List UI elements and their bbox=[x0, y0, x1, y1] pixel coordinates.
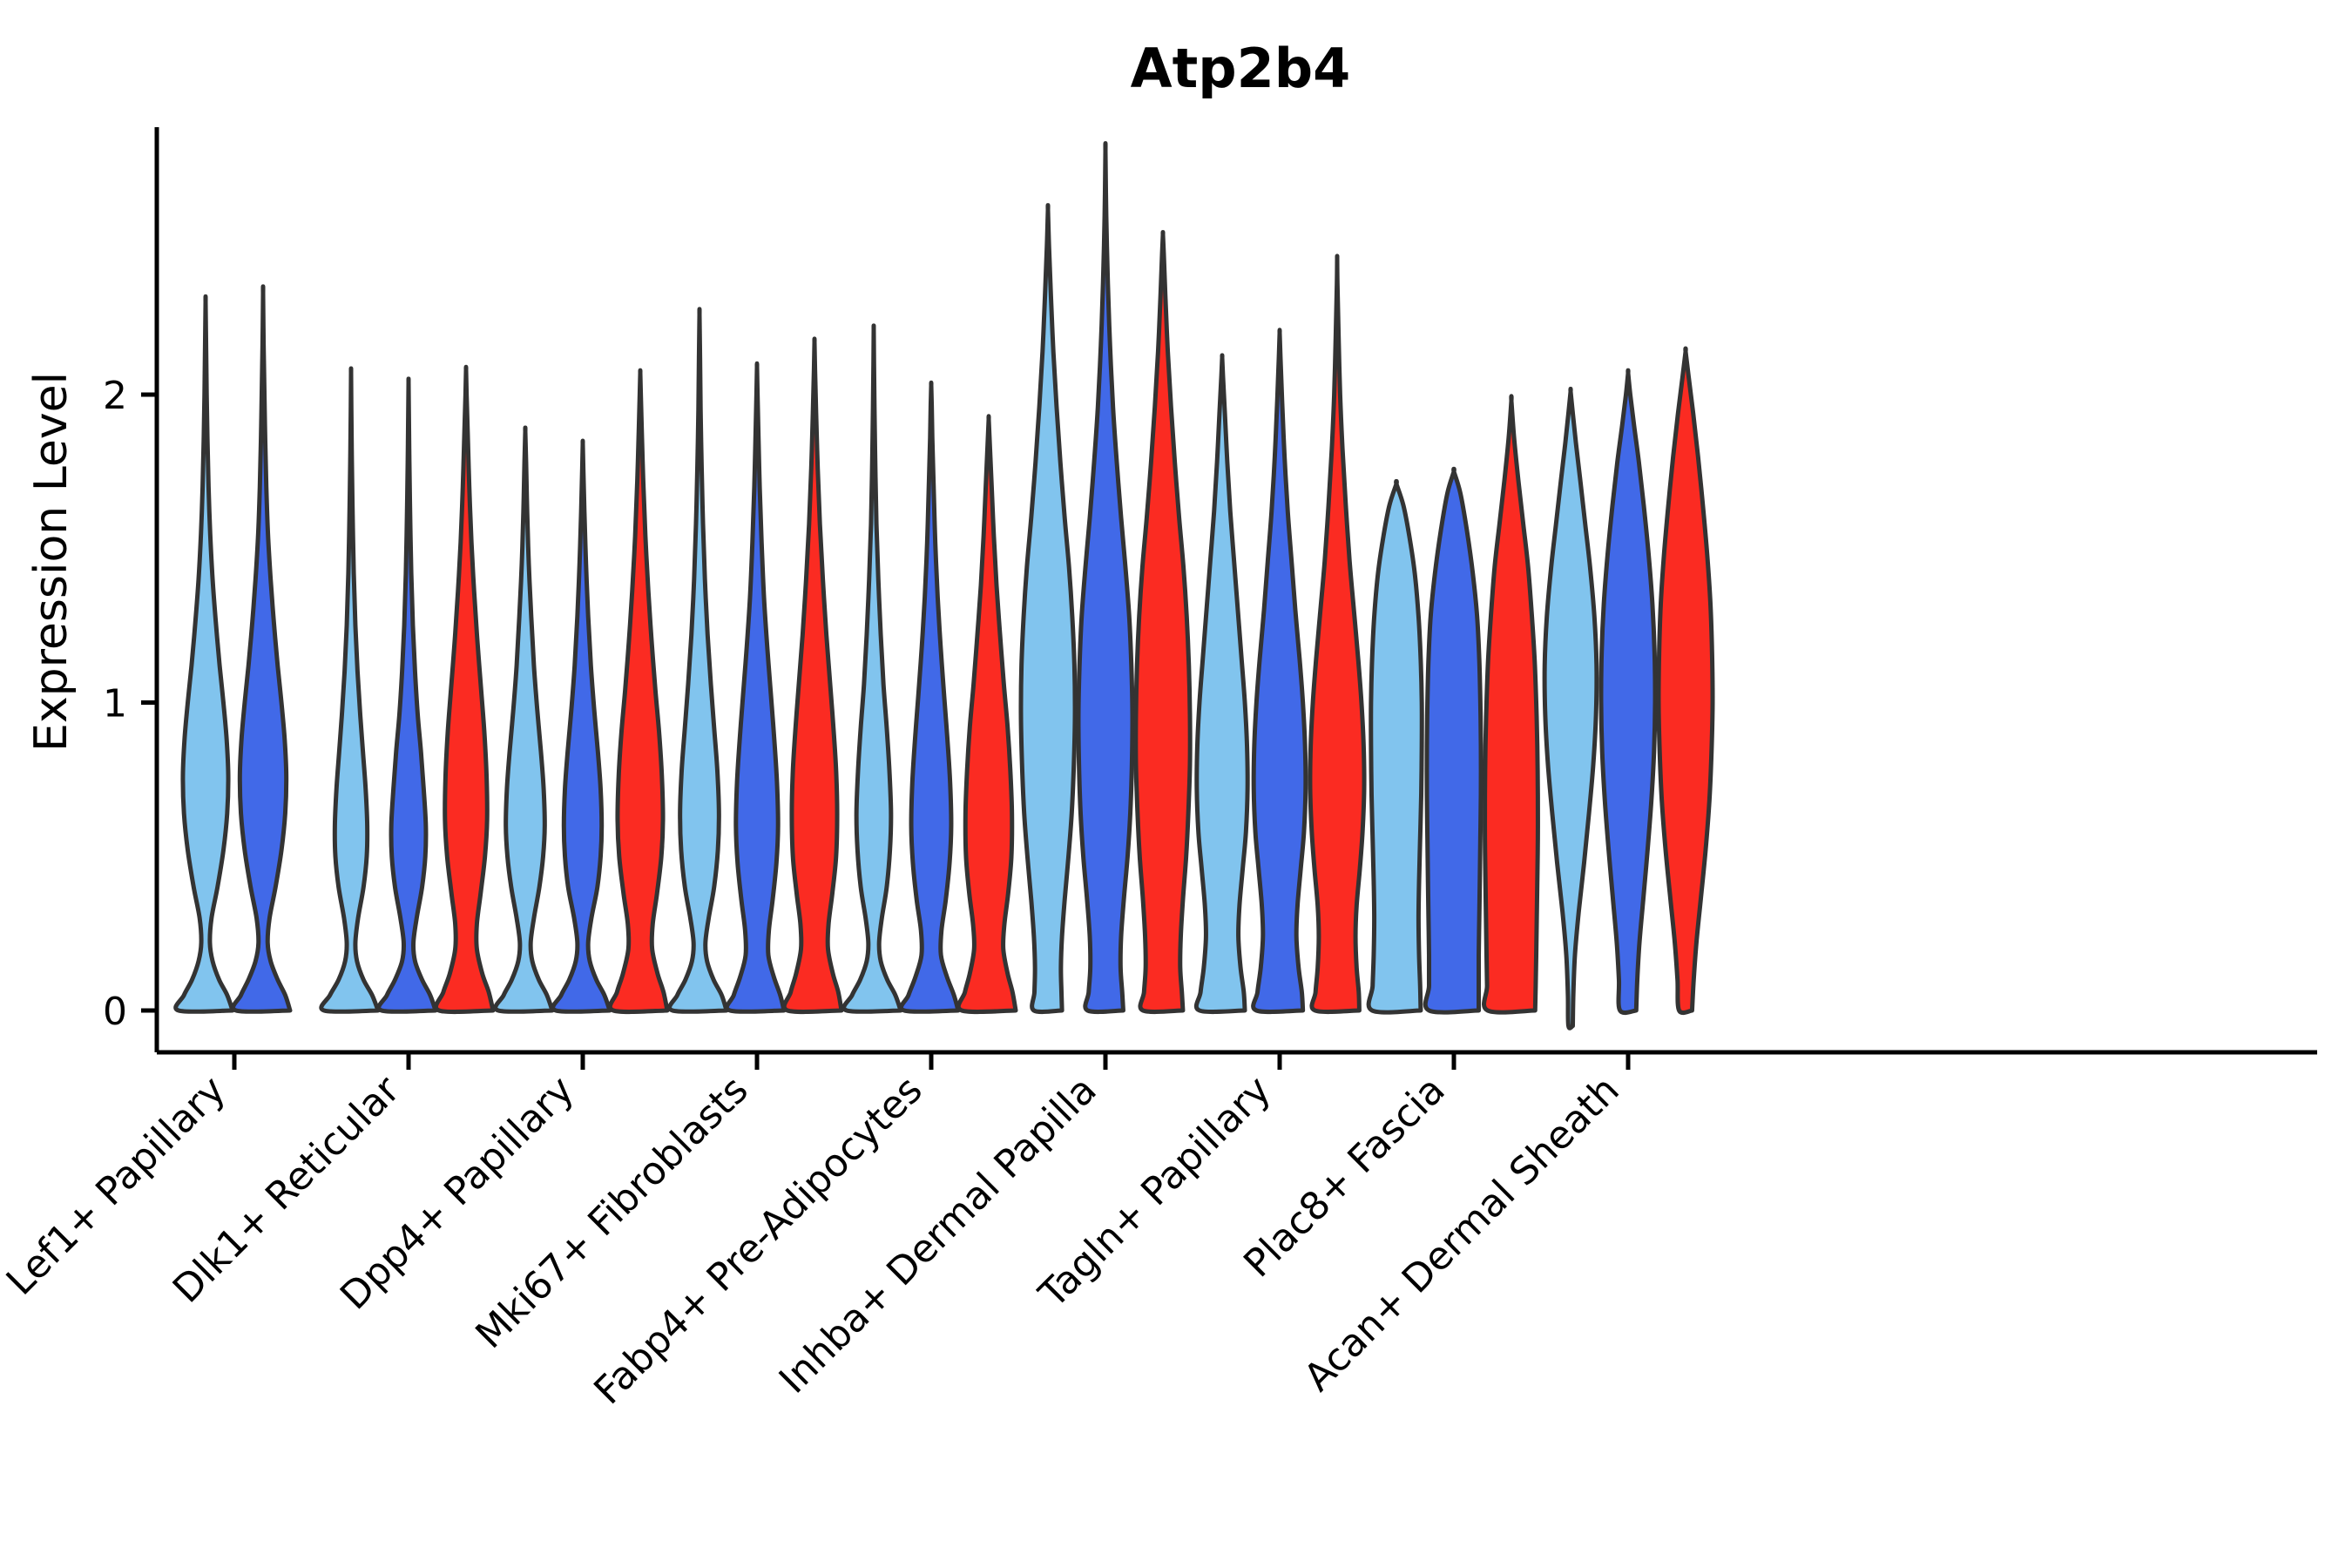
y-tick-label: 0 bbox=[103, 990, 127, 1034]
y-tick-label: 1 bbox=[103, 682, 127, 727]
y-tick-label: 2 bbox=[103, 374, 127, 418]
y-axis-label: Expression Level bbox=[25, 372, 78, 752]
chart-canvas: Atp2b4 Expression Level 012 Lef1+ Papill… bbox=[0, 0, 2352, 1568]
page-title: Atp2b4 bbox=[1131, 37, 1351, 100]
violin-plot-figure: Atp2b4 Expression Level 012 Lef1+ Papill… bbox=[0, 0, 2352, 1568]
